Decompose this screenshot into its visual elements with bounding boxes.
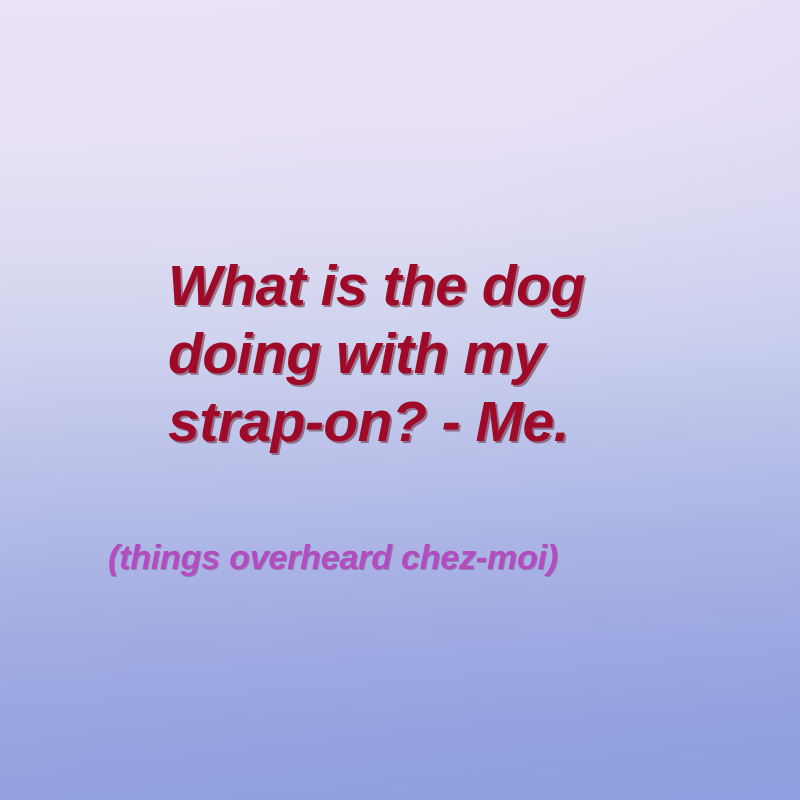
quote-card: What is the dog doing with my strap-on? … [0,0,800,800]
quote-headline: What is the dog doing with my strap-on? … [168,252,688,456]
quote-subtitle: (things overheard chez-moi) [108,537,728,579]
text-block: What is the dog doing with my strap-on? … [0,0,800,800]
